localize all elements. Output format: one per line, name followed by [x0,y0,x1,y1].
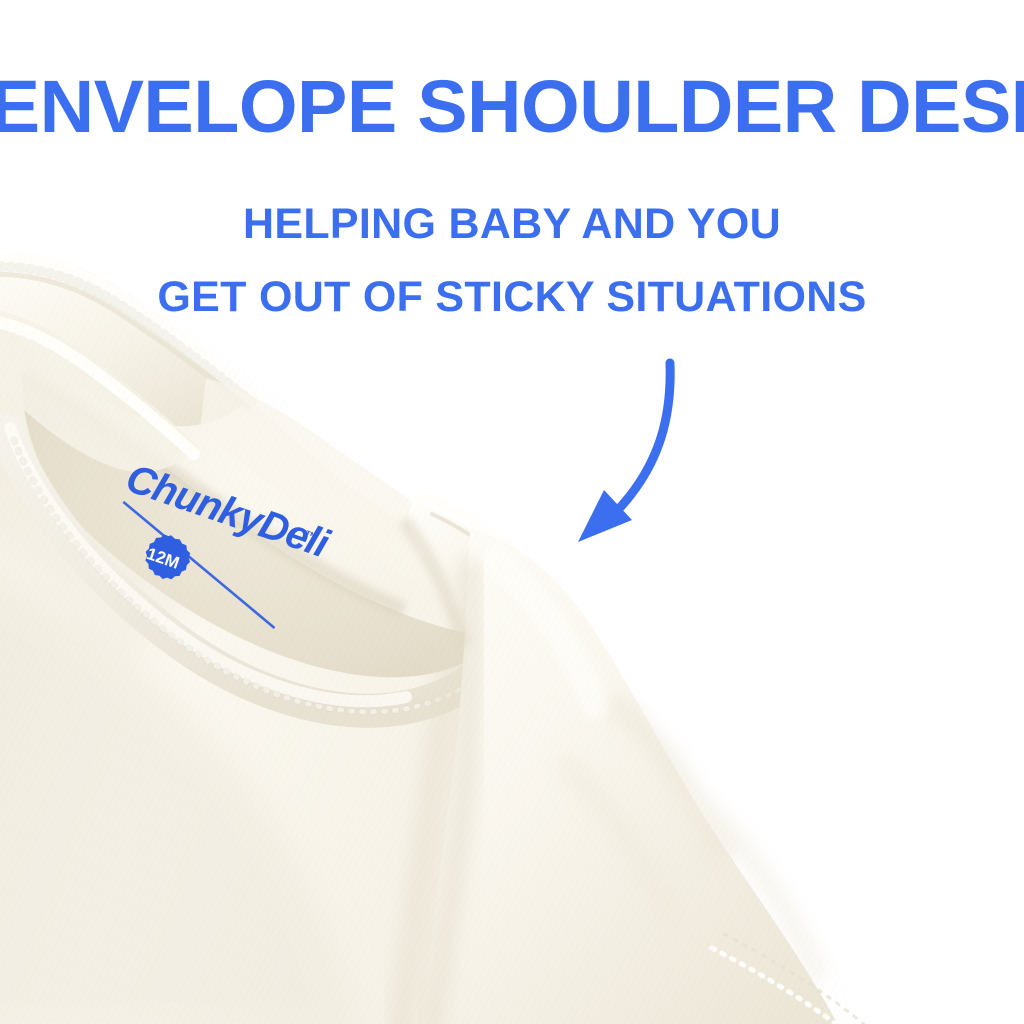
subtitle-line-2: GET OUT OF STICKY SITUATIONS [0,276,1024,319]
neck-opening [22,372,500,677]
trademark-symbol: ™ [302,527,319,545]
size-badge: 12M [139,529,196,585]
neck-binding [6,428,506,712]
label-underline [101,502,298,628]
curved-arrow-down-left-icon [540,330,740,570]
back-shoulder-panel [200,378,513,624]
envelope-shoulder-overlap [408,494,588,656]
envelope-shoulder-flap-under [0,305,198,472]
sleeve [420,528,866,1024]
size-badge-text: 12M [144,544,181,573]
bodysuit-front-panel [0,263,820,1024]
fabric-knit-texture [0,240,1024,1024]
subtitle-line-1: HELPING BABY AND YOU [0,203,1024,246]
product-infographic-canvas: 12M ChunkyDeli ™ ENVELOPE SHOULDER DESIG… [0,0,1024,1024]
brand-wordmark: ChunkyDeli [121,456,336,567]
page-title: ENVELOPE SHOULDER DESIGN [0,70,1024,144]
baby-bodysuit-photo: 12M ChunkyDeli ™ [0,0,1024,1024]
neck-label: 12M ChunkyDeli ™ [97,456,335,636]
annotation-arrow [540,330,740,570]
